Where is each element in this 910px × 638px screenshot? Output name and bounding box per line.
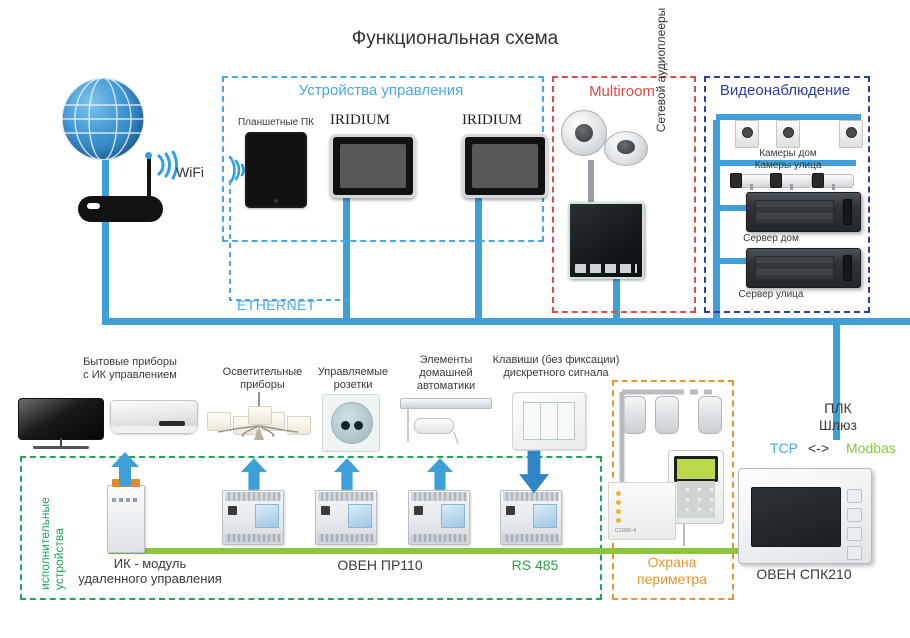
router-antenna-tip [145, 152, 152, 159]
outdoor-cameras-label: Камеры улица [738, 160, 838, 172]
spk210-hmi-device[interactable] [738, 468, 872, 564]
speaker-to-player-line [588, 160, 594, 204]
indoor-camera-1-icon [735, 120, 759, 148]
pr110-label: ОВЕН ПР110 [300, 557, 460, 574]
outdoor-camera-3-icon [812, 172, 852, 189]
panel-control-devices-title: Устройства управления [222, 82, 540, 99]
rs485-label: RS 485 [480, 557, 590, 574]
router-led [87, 203, 100, 209]
spk210-label: ОВЕН СПК210 [738, 566, 870, 583]
pr110-module-4[interactable] [500, 490, 562, 545]
curtain-motor-device [400, 398, 492, 446]
keypad-buttons[interactable] [677, 481, 715, 518]
panel-video-surveillance-title: Видеонаблюдение [704, 82, 866, 99]
c2000-tag: С2000-4 [615, 528, 636, 534]
appliances-label: Бытовые приборы с ИК управлением [60, 356, 200, 382]
protocol-tcp-label: TCP [770, 440, 798, 456]
ethernet-backbone [102, 318, 910, 325]
outdoor-camera-2-icon [770, 172, 810, 189]
indoor-camera-2-icon [776, 120, 800, 148]
pr110-module-2[interactable] [315, 490, 377, 545]
ceiling-speaker-2-icon [604, 131, 648, 166]
video-bus-server-2 [716, 258, 746, 264]
multirum-audio-player[interactable] [568, 202, 644, 279]
router-antenna [147, 158, 151, 200]
iridium-panel-2[interactable] [462, 134, 548, 198]
internet-globe-icon [62, 78, 144, 160]
c2000-control-panel-device[interactable]: С2000-4 [608, 482, 676, 540]
indoor-cameras-label: Камеры дом [740, 148, 836, 160]
protocol-modbus-label: Modbas [846, 440, 896, 456]
sockets-label: Управляемые розетки [308, 366, 398, 392]
ceiling-speaker-1-icon [561, 110, 607, 156]
chandelier-device [205, 392, 313, 454]
air-conditioner-device [110, 400, 198, 434]
wifi-label: WiFi [176, 164, 204, 180]
street-server-label: Сервер улица [726, 289, 816, 301]
multiroom-side-label: Сетевой аудиоплееры [654, 0, 668, 140]
tablet-device[interactable] [245, 132, 307, 208]
ethernet-label: ETHERNET [237, 297, 316, 313]
security-perimeter-label: Охрана периметра [622, 554, 722, 587]
switches-label: Клавиши (без фиксации) дискретного сигна… [480, 354, 632, 380]
iridium-1-label: IRIDIUM [305, 112, 415, 130]
wall-switch-device[interactable] [512, 392, 586, 450]
diagram-canvas: Функциональная схема [0, 0, 910, 638]
indoor-camera-3-icon [839, 120, 863, 148]
home-server-device[interactable] [746, 192, 861, 232]
iridium-panel-1[interactable] [330, 134, 416, 198]
lighting-label: Осветительные приборы [205, 366, 320, 392]
wifi-router-icon [78, 196, 163, 222]
audio-player-ports [575, 264, 637, 273]
smart-socket-device [322, 394, 380, 452]
ir-remote-module-device[interactable] [107, 485, 145, 553]
page-title: Функциональная схема [0, 28, 910, 50]
tv-device [18, 398, 104, 452]
protocol-arrow-label: <-> [808, 440, 829, 456]
pr110-1-up-arrow [240, 458, 268, 490]
video-bus-server-1 [716, 205, 746, 211]
alarm-keypad-device[interactable] [668, 450, 724, 524]
gateway-title: ПЛК Шлюз [790, 400, 886, 433]
keypad-lcd [674, 456, 718, 482]
pr110-3-up-arrow [426, 458, 454, 490]
pr110-module-1[interactable] [222, 490, 284, 545]
panel-multiroom-title: Multiroom [552, 83, 692, 100]
outdoor-camera-1-icon [730, 172, 770, 189]
street-server-device[interactable] [746, 248, 861, 288]
wall-switch-down-arrow [518, 450, 550, 494]
pr110-2-up-arrow [333, 458, 361, 490]
pr110-module-3[interactable] [408, 490, 470, 545]
automation-label: Элементы домашней автоматики [400, 354, 492, 393]
hmi-screen [751, 487, 841, 547]
iridium-2-label: IRIDIUM [437, 112, 547, 130]
home-server-label: Сервер дом [726, 233, 816, 245]
ir-module-label: ИК - модуль удаленного управления [60, 556, 240, 587]
ir-module-up-arrow [110, 452, 140, 486]
hmi-function-keys[interactable] [847, 489, 862, 545]
